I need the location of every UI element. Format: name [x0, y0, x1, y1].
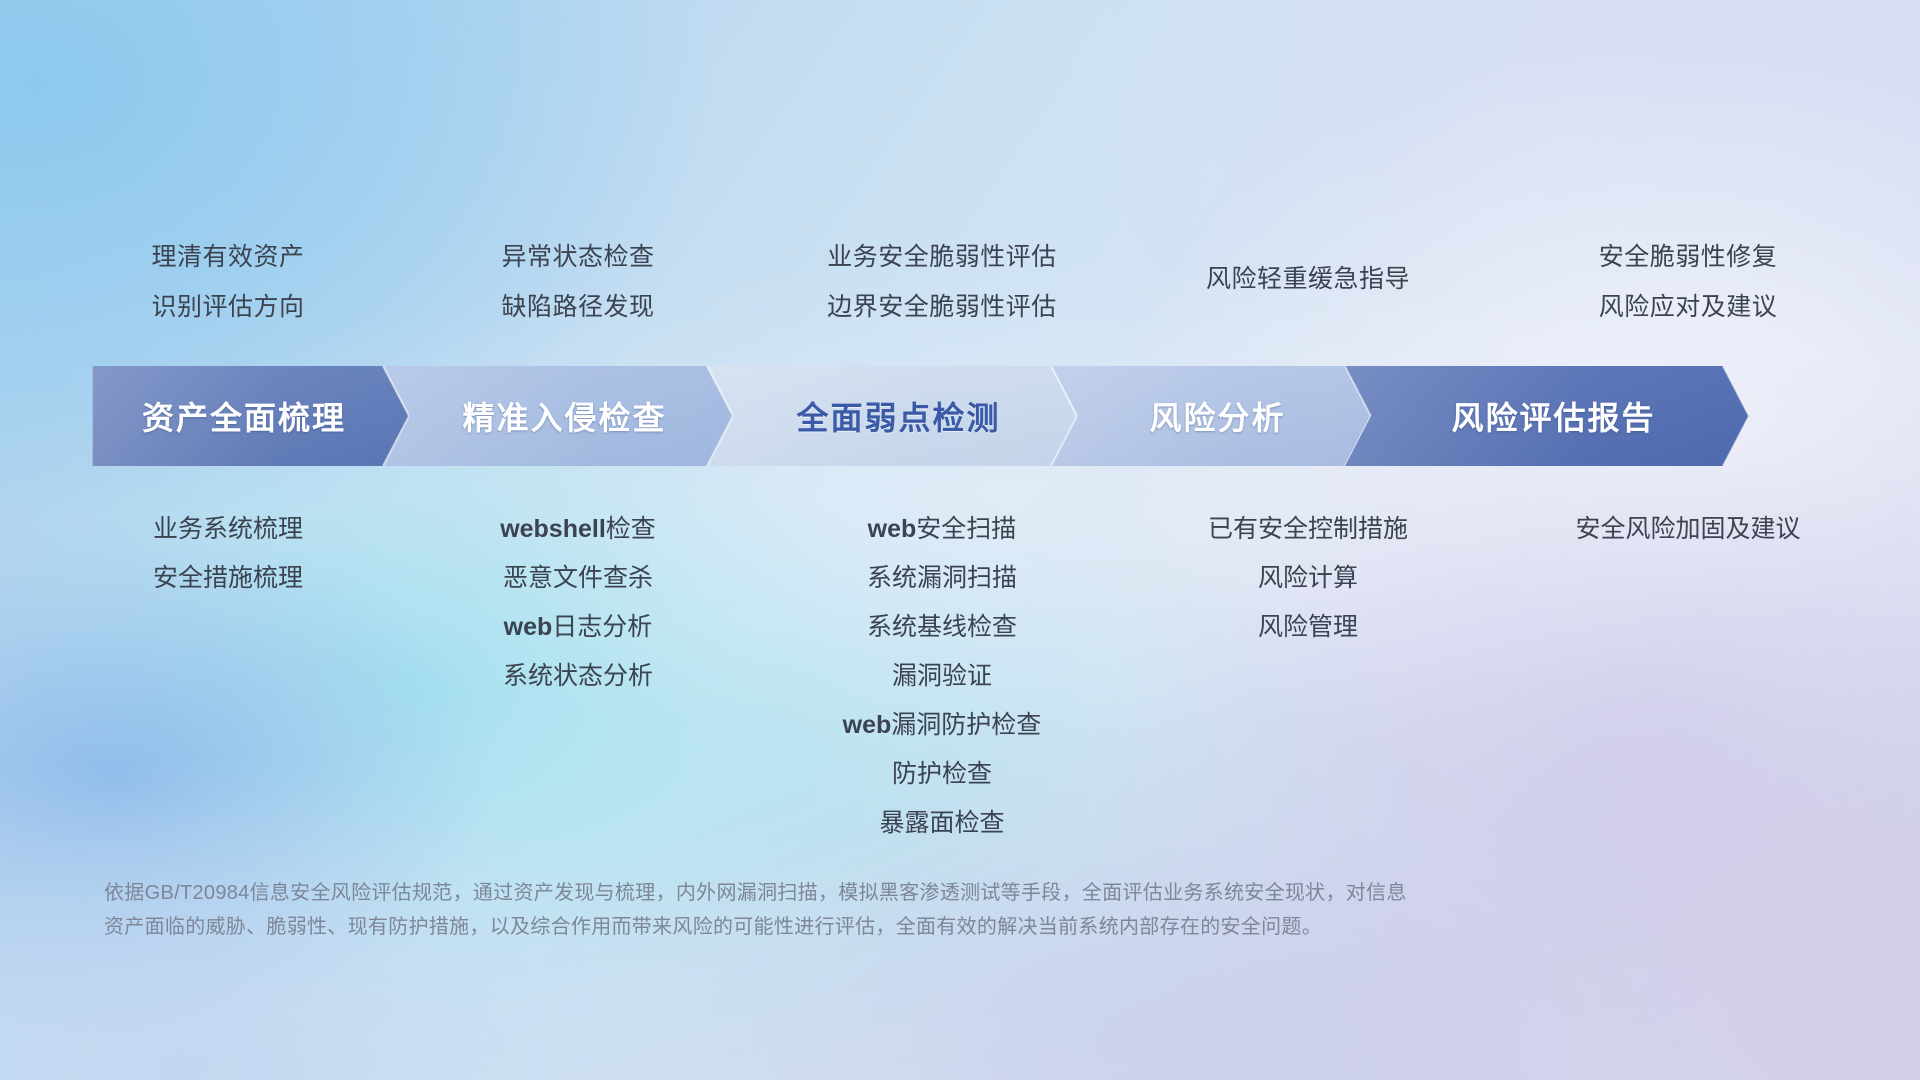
stage-arrow-3[interactable]: 全面弱点检测: [707, 366, 1077, 466]
bottom-label-item: 安全风险加固及建议: [1438, 505, 1920, 554]
bottom-label-item-text: 漏洞防护检查: [891, 711, 1041, 739]
bottom-label-item-prefix: web: [504, 613, 553, 641]
stage-arrow-label-1: 资产全面梳理: [92, 366, 396, 466]
bottom-label-item-text: 检查: [606, 515, 656, 543]
bottom-label-item: 防护检查: [692, 750, 1192, 799]
bottom-label-item-text: 日志分析: [552, 613, 652, 641]
bottom-label-item-prefix: webshell: [500, 515, 606, 543]
top-label-column-5: 安全脆弱性修复风险应对及建议: [1448, 232, 1920, 332]
bottom-label-item: web漏洞防护检查: [692, 701, 1192, 750]
stage-arrow-1[interactable]: 资产全面梳理: [92, 366, 409, 466]
bottom-label-item-text: 安全扫描: [916, 515, 1016, 543]
stage-arrow-label-3: 全面弱点检测: [733, 366, 1064, 466]
footer-line-1: 依据GB/T20984信息安全风险评估规范，通过资产发现与梳理，内外网漏洞扫描，…: [104, 876, 1724, 910]
stage-arrow-label-4: 风险分析: [1077, 366, 1358, 466]
top-label-item: 风险应对及建议: [1448, 282, 1920, 332]
bottom-label-item-prefix: web: [843, 711, 892, 739]
stage-arrow-5[interactable]: 风险评估报告: [1345, 366, 1749, 466]
bottom-label-item: 风险管理: [1058, 603, 1558, 652]
top-label-item: 安全脆弱性修复: [1448, 232, 1920, 282]
process-diagram: 理清有效资产识别评估方向异常状态检查缺陷路径发现业务安全脆弱性评估边界安全脆弱性…: [0, 0, 1920, 1080]
stage-arrow-label-2: 精准入侵检查: [409, 366, 720, 466]
footer-description: 依据GB/T20984信息安全风险评估规范，通过资产发现与梳理，内外网漏洞扫描，…: [104, 876, 1724, 944]
bottom-label-column-5: 安全风险加固及建议: [1438, 505, 1920, 554]
bottom-label-item: 暴露面检查: [692, 799, 1192, 848]
stage-arrow-4[interactable]: 风险分析: [1051, 366, 1371, 466]
stage-arrow-2[interactable]: 精准入侵检查: [383, 366, 733, 466]
stage-arrow-label-5: 风险评估报告: [1371, 366, 1736, 466]
bottom-label-item: 漏洞验证: [692, 652, 1192, 701]
bottom-label-item: 风险计算: [1058, 554, 1558, 603]
bottom-label-item-prefix: web: [868, 515, 917, 543]
footer-line-2: 资产面临的威胁、脆弱性、现有防护措施，以及综合作用而带来风险的可能性进行评估，全…: [104, 910, 1724, 944]
stage-arrow-band: 资产全面梳理 精准入侵检查: [0, 366, 1920, 466]
